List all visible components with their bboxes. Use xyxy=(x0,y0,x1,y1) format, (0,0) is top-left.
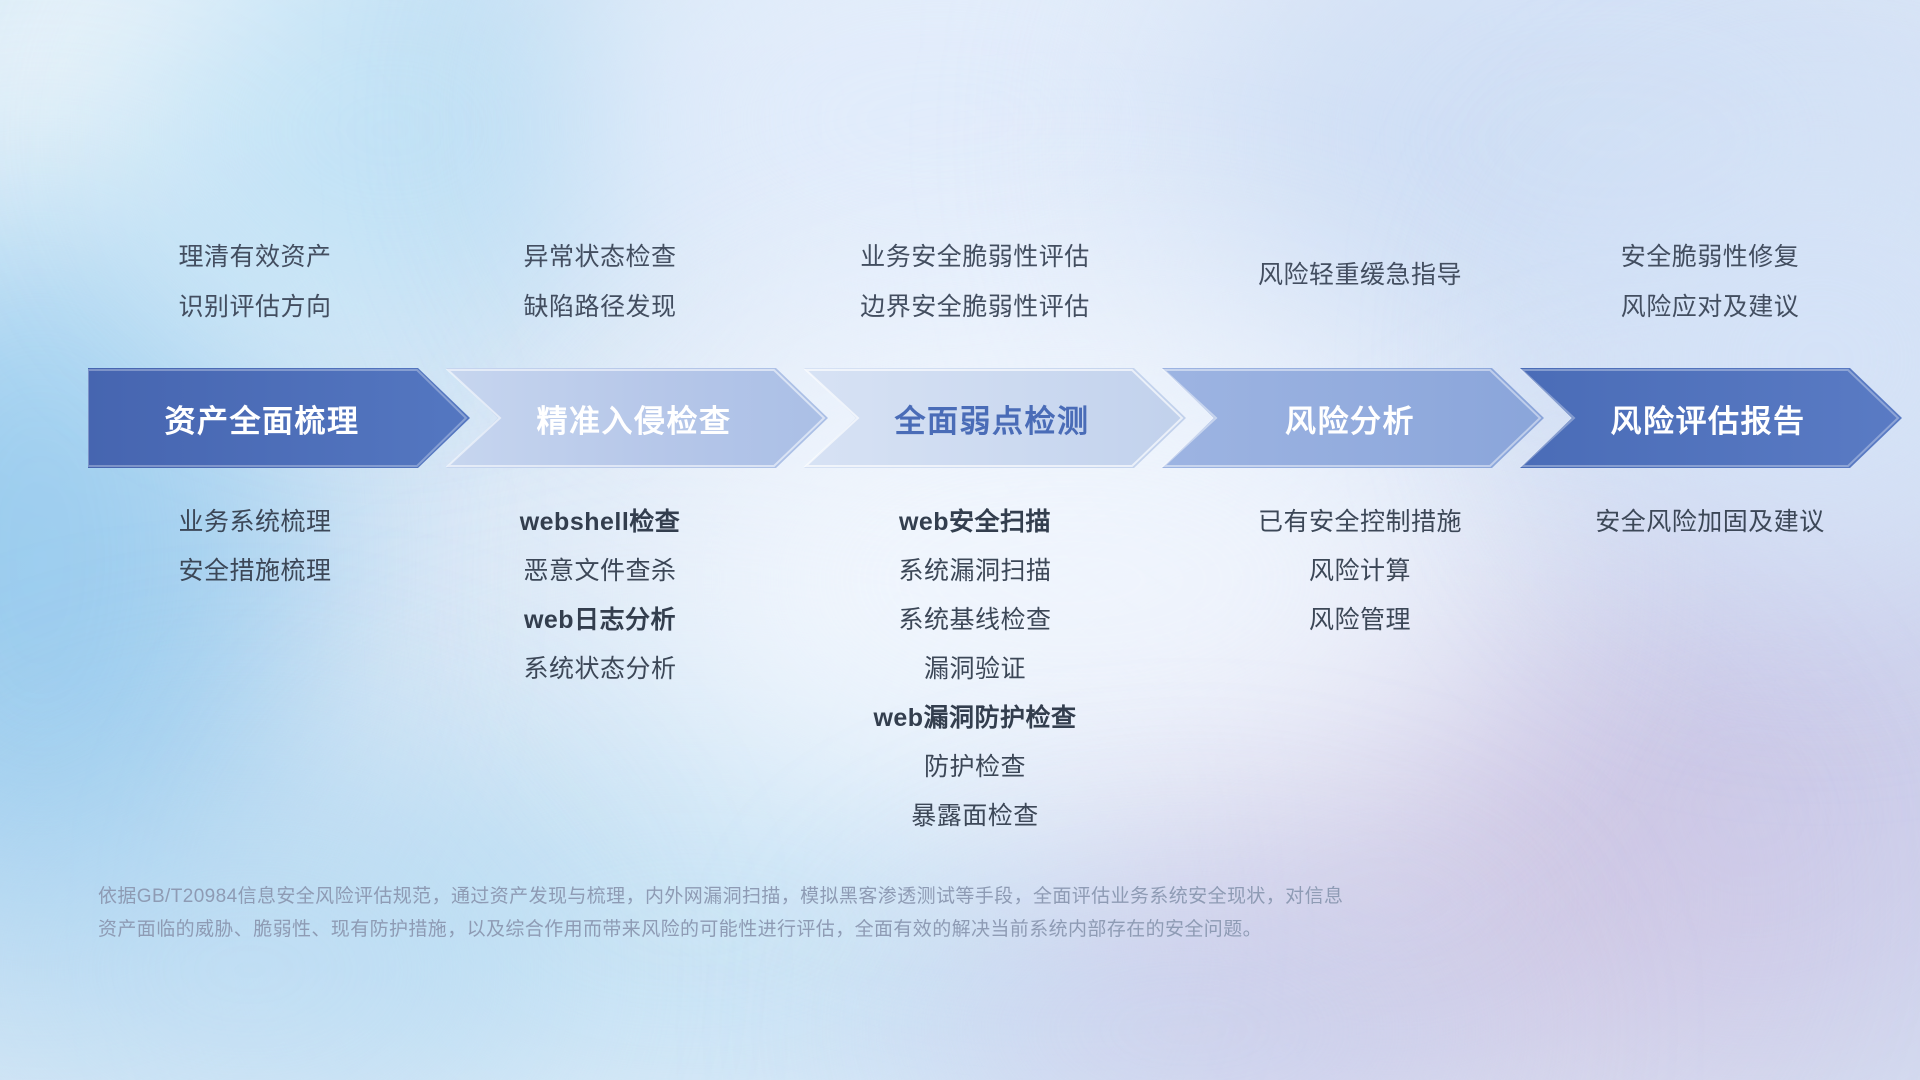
bottom-annotation-line: 已有安全控制措施 xyxy=(1180,498,1540,547)
footer-description: 依据GB/T20984信息安全风险评估规范，通过资产发现与梳理，内外网漏洞扫描，… xyxy=(98,880,1658,946)
bottom-annotation-stage-5: 安全风险加固及建议 xyxy=(1540,498,1880,547)
bottom-annotation-line: 业务系统梳理 xyxy=(90,498,420,547)
stage-label-1: 资产全面梳理 xyxy=(165,396,360,441)
bottom-annotation-stage-2: webshell检查 恶意文件查杀 web日志分析 系统状态分析 xyxy=(435,498,765,694)
stage-banner: 资产全面梳理 精准入侵检查 xyxy=(88,368,1836,468)
stage-label-5: 风险评估报告 xyxy=(1611,396,1806,441)
stage-label-4: 风险分析 xyxy=(1285,396,1415,441)
bottom-annotation-stage-1: 业务系统梳理 安全措施梳理 xyxy=(90,498,420,596)
top-annotation-line: 缺陷路径发现 xyxy=(435,282,765,332)
top-annotation-line: 理清有效资产 xyxy=(90,232,420,282)
stage-chevron-2[interactable]: 精准入侵检查 xyxy=(446,368,828,468)
process-diagram: 理清有效资产 识别评估方向 异常状态检查 缺陷路径发现 业务安全脆弱性评估 边界… xyxy=(0,0,1920,1080)
bottom-annotation-stage-4: 已有安全控制措施 风险计算 风险管理 xyxy=(1180,498,1540,645)
bottom-annotation-line: webshell检查 xyxy=(435,498,765,547)
top-annotation-stage-2: 异常状态检查 缺陷路径发现 xyxy=(435,232,765,332)
stage-chevron-4[interactable]: 风险分析 xyxy=(1162,368,1544,468)
bottom-annotation-line: 恶意文件查杀 xyxy=(435,547,765,596)
stage-chevron-1[interactable]: 资产全面梳理 xyxy=(88,368,470,468)
bottom-annotation-line: 防护检查 xyxy=(780,743,1170,792)
top-annotation-stage-1: 理清有效资产 识别评估方向 xyxy=(90,232,420,332)
bottom-annotation-line: web安全扫描 xyxy=(780,498,1170,547)
top-annotation-line: 风险轻重缓急指导 xyxy=(1180,250,1540,300)
bottom-annotation-stage-3: web安全扫描 系统漏洞扫描 系统基线检查 漏洞验证 web漏洞防护检查 防护检… xyxy=(780,498,1170,841)
bottom-annotation-line: 风险管理 xyxy=(1180,596,1540,645)
bottom-annotation-line: web漏洞防护检查 xyxy=(780,694,1170,743)
bottom-annotation-line: 系统状态分析 xyxy=(435,645,765,694)
footer-line-2: 资产面临的威胁、脆弱性、现有防护措施，以及综合作用而带来风险的可能性进行评估，全… xyxy=(98,913,1658,946)
top-annotation-line: 业务安全脆弱性评估 xyxy=(780,232,1170,282)
top-annotation-stage-3: 业务安全脆弱性评估 边界安全脆弱性评估 xyxy=(780,232,1170,332)
top-annotation-line: 安全脆弱性修复 xyxy=(1540,232,1880,282)
stage-chevron-3[interactable]: 全面弱点检测 xyxy=(804,368,1186,468)
top-annotation-line: 异常状态检查 xyxy=(435,232,765,282)
top-annotation-stage-4: 风险轻重缓急指导 xyxy=(1180,250,1540,300)
bottom-annotation-line: 系统基线检查 xyxy=(780,596,1170,645)
top-annotation-stage-5: 安全脆弱性修复 风险应对及建议 xyxy=(1540,232,1880,332)
top-annotation-line: 边界安全脆弱性评估 xyxy=(780,282,1170,332)
bottom-annotation-line: web日志分析 xyxy=(435,596,765,645)
bottom-annotation-line: 安全措施梳理 xyxy=(90,547,420,596)
stage-label-2: 精准入侵检查 xyxy=(537,396,732,441)
bottom-annotation-line: 安全风险加固及建议 xyxy=(1540,498,1880,547)
top-annotation-line: 识别评估方向 xyxy=(90,282,420,332)
bottom-annotation-line: 系统漏洞扫描 xyxy=(780,547,1170,596)
bottom-annotation-line: 漏洞验证 xyxy=(780,645,1170,694)
stage-chevron-5[interactable]: 风险评估报告 xyxy=(1520,368,1902,468)
top-annotations-row: 理清有效资产 识别评估方向 异常状态检查 缺陷路径发现 业务安全脆弱性评估 边界… xyxy=(90,232,1880,332)
stage-label-3: 全面弱点检测 xyxy=(895,396,1090,441)
bottom-annotation-line: 暴露面检查 xyxy=(780,792,1170,841)
bottom-annotation-line: 风险计算 xyxy=(1180,547,1540,596)
top-annotation-line: 风险应对及建议 xyxy=(1540,282,1880,332)
footer-line-1: 依据GB/T20984信息安全风险评估规范，通过资产发现与梳理，内外网漏洞扫描，… xyxy=(98,880,1658,913)
